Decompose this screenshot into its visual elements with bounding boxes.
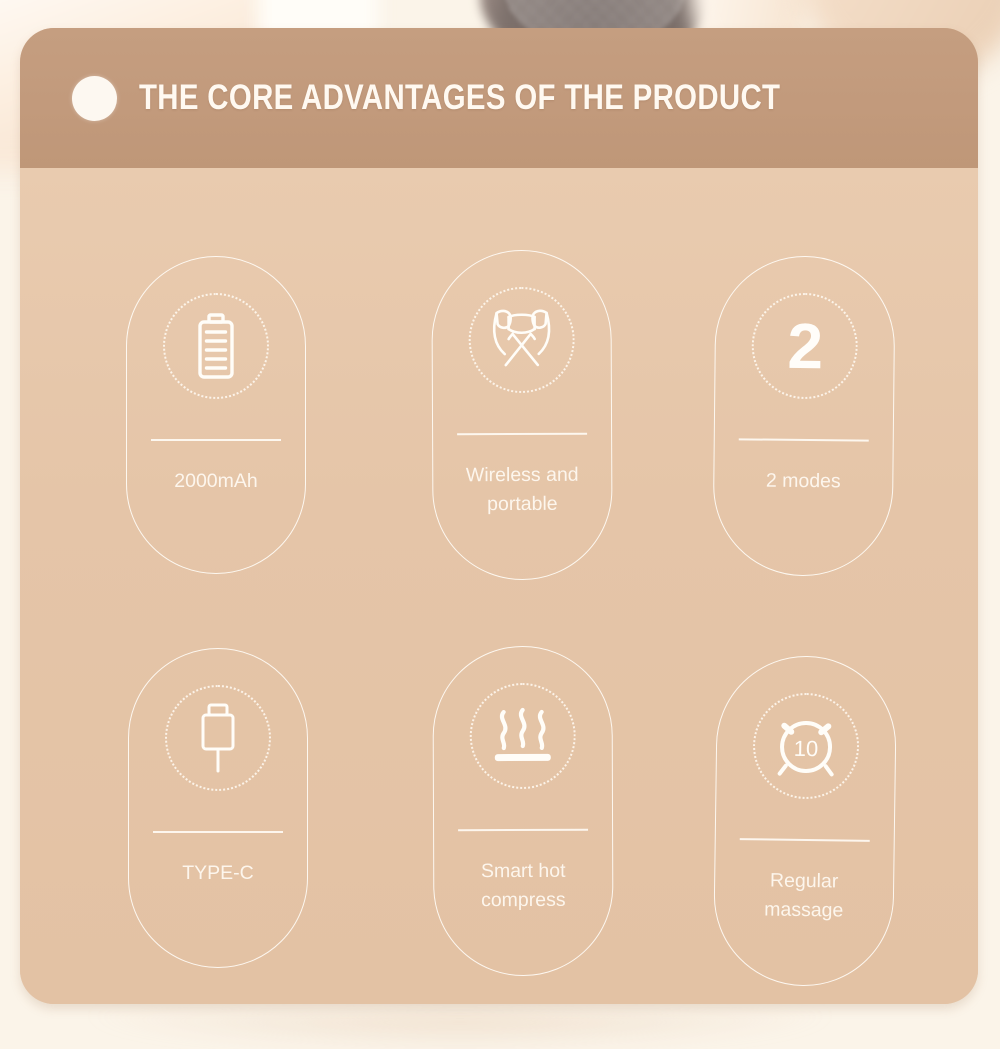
feature-label: TYPE-C <box>143 859 293 888</box>
panel-drop-shadow <box>80 1012 840 1049</box>
heat-waves-icon <box>488 702 558 770</box>
feature-label: Wireless and portable <box>447 460 597 519</box>
feature-card-type-c[interactable]: TYPE-C <box>128 648 308 968</box>
feature-card-battery[interactable]: 2000mAh <box>126 256 306 574</box>
card-divider <box>457 433 587 435</box>
feature-card-grid: 2000mAh <box>20 168 978 1004</box>
icon-ring: 10 <box>752 692 859 799</box>
number-2-icon: 2 <box>787 314 822 378</box>
feature-card-hot-compress[interactable]: Smart hot compress <box>432 646 613 977</box>
card-divider <box>153 831 283 833</box>
feature-label: 2 modes <box>728 466 878 497</box>
product-feature-poster: THE CORE ADVANTAGES OF THE PRODUCT <box>0 0 1000 1049</box>
feature-label: Regular massage <box>729 866 880 927</box>
feature-label: Smart hot compress <box>448 856 598 915</box>
card-divider <box>151 439 281 441</box>
icon-ring <box>163 293 269 399</box>
icon-ring <box>165 685 271 791</box>
icon-ring <box>470 683 576 789</box>
feature-card-regular-massage[interactable]: 10 Regular massage <box>713 655 898 987</box>
page-title: THE CORE ADVANTAGES OF THE PRODUCT <box>139 78 780 118</box>
feature-card-modes[interactable]: 2 2 modes <box>712 255 895 577</box>
feature-label: 2000mAh <box>141 467 291 496</box>
card-divider <box>740 838 870 841</box>
usb-type-c-plug-icon <box>195 702 241 774</box>
icon-ring <box>468 287 574 393</box>
battery-icon <box>196 313 236 379</box>
alarm-clock-icon: 10 <box>767 708 846 783</box>
card-divider <box>739 438 869 441</box>
circle-bullet-icon <box>72 76 117 121</box>
feature-card-wireless[interactable]: Wireless and portable <box>431 250 612 581</box>
feature-panel: THE CORE ADVANTAGES OF THE PRODUCT <box>20 28 978 1004</box>
icon-ring: 2 <box>751 292 858 399</box>
panel-header: THE CORE ADVANTAGES OF THE PRODUCT <box>20 28 978 168</box>
card-divider <box>458 829 588 831</box>
alarm-clock-number: 10 <box>794 736 819 761</box>
neck-massager-icon <box>483 301 561 379</box>
